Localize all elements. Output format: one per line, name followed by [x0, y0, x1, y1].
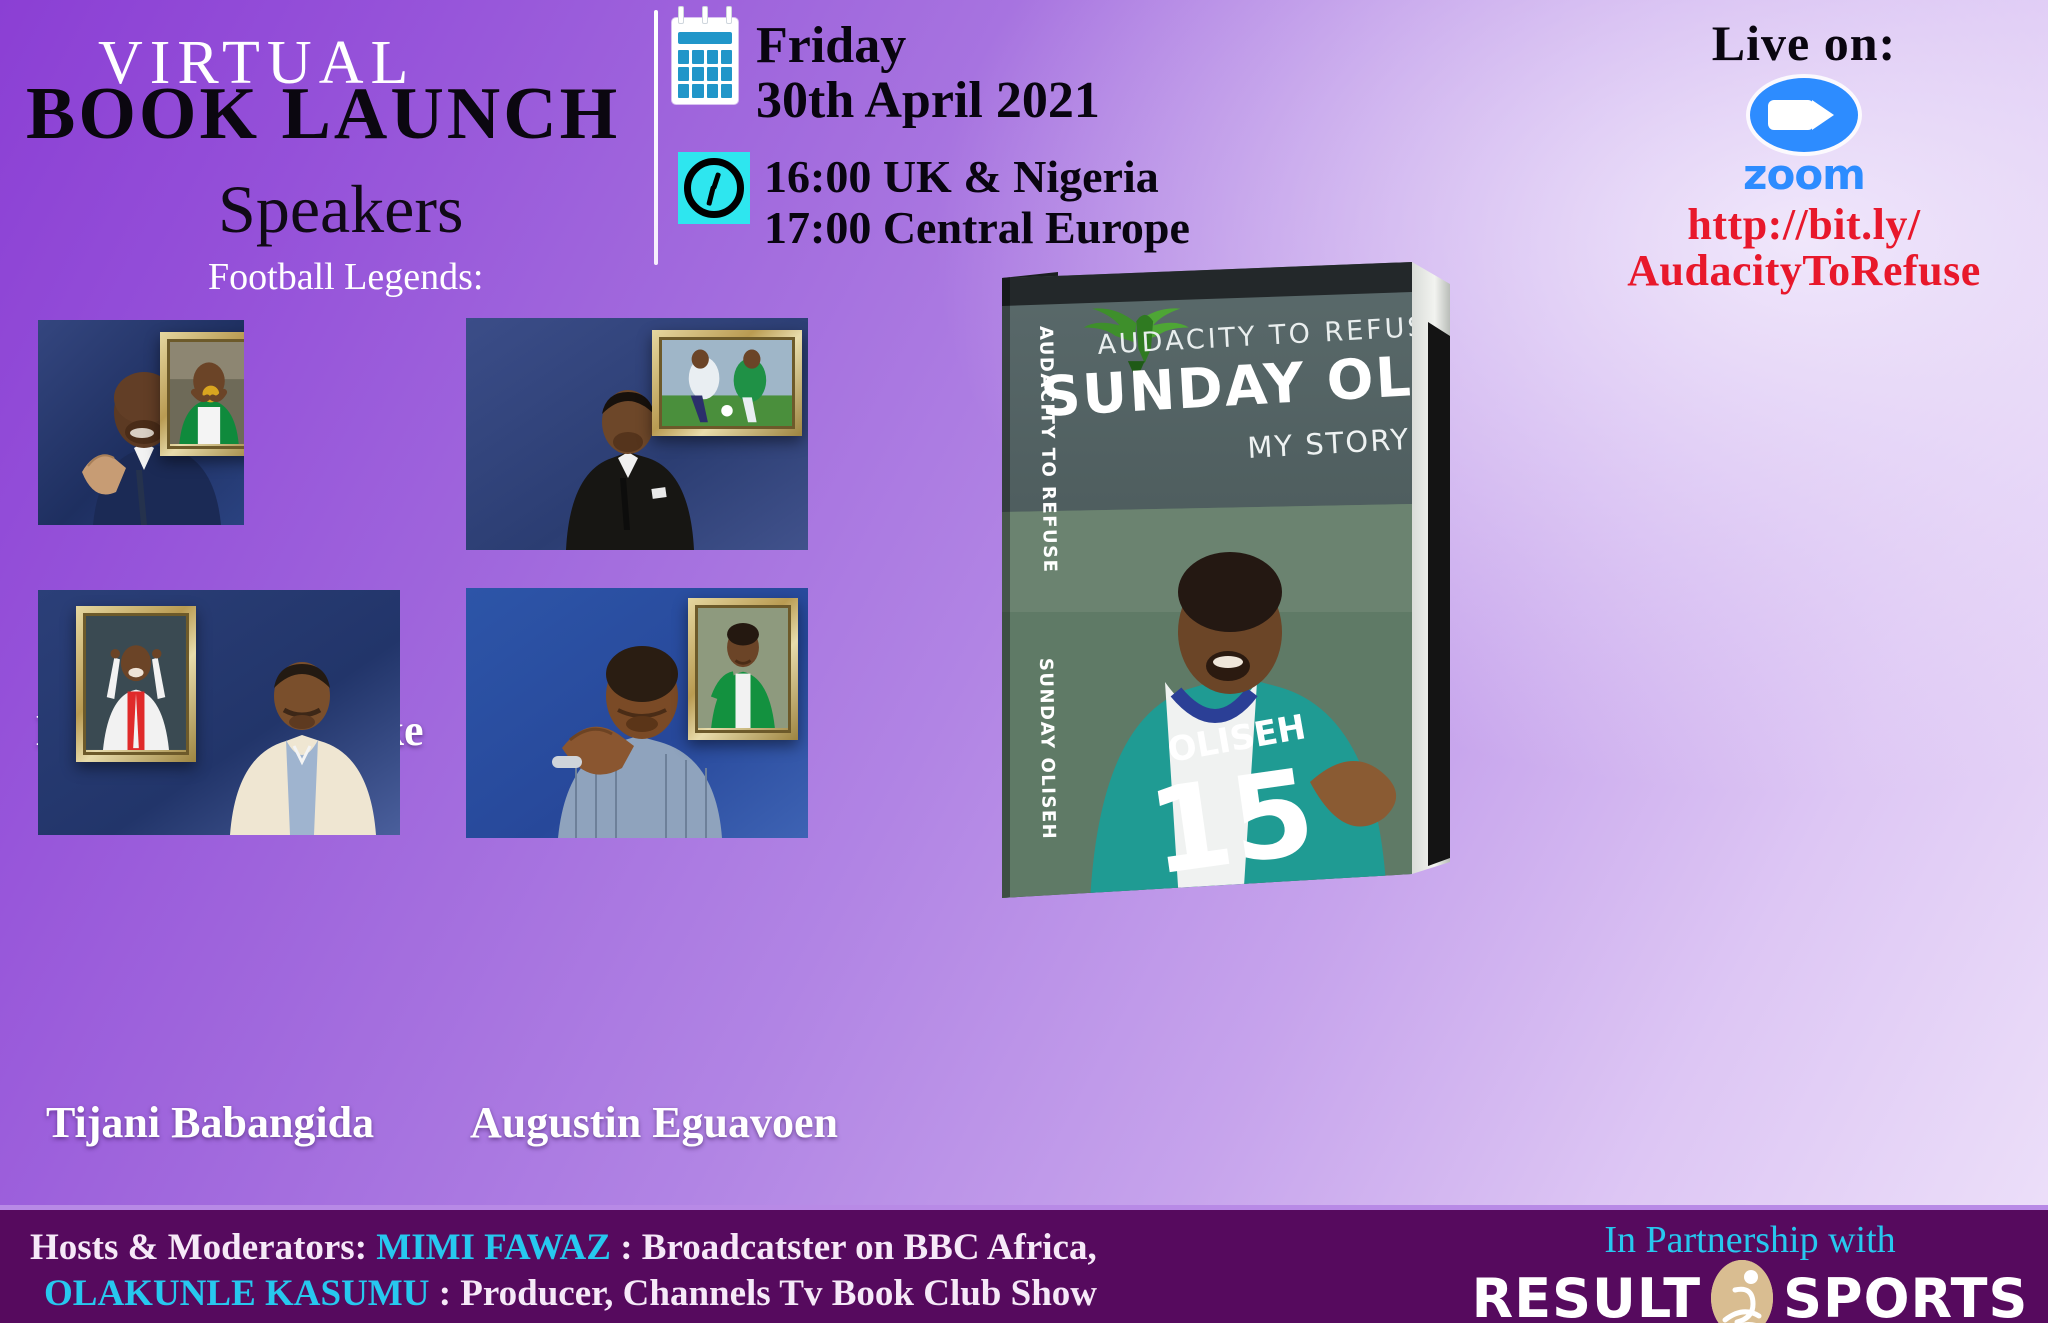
book-spine-top: AUDACITY TO REFUSE: [1035, 326, 1060, 574]
page-title-booklaunch: BOOK LAUNCH: [26, 72, 620, 157]
live-on-block: Live on: zoom http://bit.ly/ AudacityToR…: [1560, 14, 2048, 294]
inset-photo-2: [86, 616, 186, 750]
hosts-line-1: Hosts & Moderators: MIMI FAWAZ : Broadca…: [30, 1226, 1097, 1269]
host-1-name: MIMI FAWAZ: [376, 1227, 611, 1268]
hosts-label: Hosts & Moderators:: [30, 1227, 367, 1268]
event-date-line2: 30th April 2021: [756, 73, 1100, 128]
speaker-card-3: [466, 588, 808, 838]
event-date-row: Friday 30th April 2021: [672, 18, 1100, 128]
book-spine-bottom: SUNDAY OLISEH: [1035, 658, 1059, 841]
host-2-role: : Producer, Channels Tv Book Club Show: [439, 1273, 1097, 1314]
live-on-label: Live on:: [1560, 14, 2048, 72]
event-time-text: 16:00 UK & Nigeria 17:00 Central Europe: [764, 152, 1190, 253]
athlete-figure-icon: [1711, 1260, 1773, 1323]
jersey-number: 15: [1141, 742, 1323, 902]
footer-banner: Hosts & Moderators: MIMI FAWAZ : Broadca…: [0, 1205, 2048, 1323]
event-date-line1: Friday: [756, 18, 1100, 73]
header-titles: VIRTUAL BOOK LAUNCH Speakers Football Le…: [0, 0, 660, 290]
speaker-inset-frame-1: [652, 330, 802, 436]
event-time-line1: 16:00 UK & Nigeria: [764, 152, 1190, 203]
calendar-icon: [672, 18, 738, 104]
event-datetime-block: Friday 30th April 2021 16:00 UK & Nigeri…: [672, 12, 1172, 262]
poster-root: VIRTUAL BOOK LAUNCH Speakers Football Le…: [0, 0, 2048, 1323]
result-sports-logo: RESULT SPORTS: [1470, 1260, 2030, 1323]
partnership-label: In Partnership with: [1470, 1218, 2030, 1262]
book-3d: OLISEH 15 AUDACITY TO REFUSE SUNDAY OLIS…: [980, 262, 1860, 902]
zoom-wordmark: zoom: [1714, 154, 1894, 196]
speaker-inset-frame-3: [688, 598, 798, 740]
speaker-name-2: Tijani Babangida: [46, 1097, 374, 1148]
speaker-card-2: [38, 590, 400, 835]
inset-photo-3: [698, 608, 788, 728]
event-date-text: Friday 30th April 2021: [756, 18, 1100, 128]
host-1-role: : Broadcatster on BBC Africa,: [620, 1227, 1097, 1268]
inset-photo-1: [662, 340, 792, 428]
speaker-inset-frame-2: [76, 606, 196, 762]
speaker-name-3: Augustin Eguavoen: [470, 1097, 838, 1148]
partner-word-2: SPORTS: [1783, 1267, 2028, 1323]
inset-photo-0: [170, 342, 244, 444]
registration-link-line1: http://bit.ly/: [1560, 202, 2048, 248]
speaker-card-0: [38, 320, 244, 525]
zoom-logo[interactable]: zoom: [1714, 78, 1894, 196]
speaker-inset-frame-0: [160, 332, 244, 456]
book-mockup: OLISEH 15 AUDACITY TO REFUSE SUNDAY OLIS…: [980, 262, 1860, 902]
speakers-subheading: Football Legends:: [208, 255, 483, 299]
speakers-heading: Speakers: [218, 170, 463, 249]
header-divider: [654, 10, 658, 265]
event-time-line2: 17:00 Central Europe: [764, 203, 1190, 254]
host-2-name: OLAKUNLE KASUMU: [44, 1273, 429, 1314]
partnership-block: In Partnership with RESULT SPORTS: [1470, 1218, 2030, 1323]
clock-icon: [678, 152, 750, 224]
event-time-row: 16:00 UK & Nigeria 17:00 Central Europe: [678, 152, 1190, 253]
zoom-camera-icon: [1750, 78, 1858, 152]
speaker-card-1: [466, 318, 808, 550]
partner-word-1: RESULT: [1472, 1267, 1702, 1323]
hosts-line-2: OLAKUNLE KASUMU : Producer, Channels Tv …: [44, 1272, 1097, 1315]
